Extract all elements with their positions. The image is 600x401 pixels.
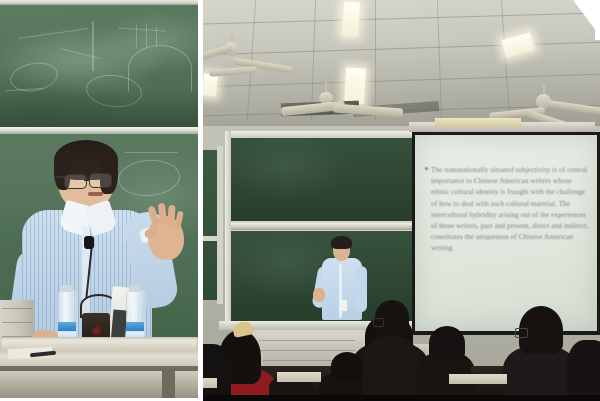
photo-panel-speaker-closeup	[0, 0, 198, 401]
chalkboard-top-rail	[225, 131, 421, 138]
bottom-edge	[203, 395, 600, 401]
photo-panel-classroom-wide: The transnationally situated subjectivit…	[203, 0, 600, 401]
speaker-name-tag	[340, 300, 347, 311]
ceiling-seam	[203, 42, 600, 55]
fluorescent-light	[344, 68, 366, 105]
image-collage: The transnationally situated subjectivit…	[0, 0, 600, 401]
small-object	[471, 366, 481, 373]
slide-bullet-icon	[425, 167, 428, 170]
student-desk	[449, 374, 507, 384]
student-desk	[203, 378, 217, 388]
lapel-microphone	[84, 236, 94, 249]
chalkboard-left-rail	[225, 131, 231, 327]
chalk-mark	[92, 21, 94, 71]
eyeglass-lens	[64, 174, 87, 189]
chalk-mark	[136, 25, 137, 47]
photo-right-edge	[595, 0, 600, 40]
side-chalkboard-frame	[217, 146, 223, 304]
fluorescent-light	[203, 73, 218, 96]
eyeglasses-icon	[515, 328, 528, 338]
speaker-hair	[331, 236, 352, 249]
chalk-mark	[18, 28, 87, 39]
slide-body-text: The transnationally situated subjectivit…	[431, 165, 591, 255]
audience-member	[567, 340, 600, 401]
panel-line	[2, 308, 32, 309]
chalkboard-upper	[0, 5, 198, 128]
audience-hair	[429, 326, 465, 360]
ceiling-seam	[501, 0, 510, 118]
chalk-mark	[128, 45, 192, 92]
ceiling-seam	[203, 12, 600, 24]
chalk-mark	[117, 158, 181, 198]
audience-hair	[331, 352, 363, 380]
ceiling	[203, 0, 600, 132]
eyeglasses-icon	[373, 318, 384, 327]
lectern-line	[259, 350, 355, 351]
panel-line	[2, 322, 32, 323]
ceiling-seam	[375, 0, 376, 120]
eyeglass-bridge	[84, 179, 90, 181]
lectern-line	[259, 340, 355, 341]
speaker-left-hand	[313, 288, 325, 302]
eyeglass-lens	[89, 173, 112, 188]
camera-lens	[92, 326, 103, 337]
fan-blade	[547, 100, 600, 115]
audience-hair	[375, 300, 409, 334]
screen-housing-bracket	[435, 118, 521, 127]
bottle-cap	[61, 285, 73, 292]
fluorescent-light	[342, 1, 360, 36]
chalkboard-upper	[230, 137, 416, 221]
ceiling-seam	[203, 74, 600, 87]
chalk-mark	[118, 27, 166, 31]
audience-member	[363, 336, 419, 400]
chalk-mark	[146, 23, 147, 47]
audience-member	[503, 346, 577, 401]
fluorescent-light	[501, 32, 535, 58]
audience-member	[203, 344, 231, 400]
student-desk	[277, 372, 321, 382]
speaker-right-arm	[355, 266, 367, 312]
chalkboard-middle-rail	[225, 223, 421, 230]
chalk-mark	[156, 27, 157, 47]
chalk-mark	[124, 152, 178, 153]
bottle-cap	[129, 285, 141, 292]
lectern-leg	[162, 371, 175, 401]
mouth	[88, 192, 103, 196]
